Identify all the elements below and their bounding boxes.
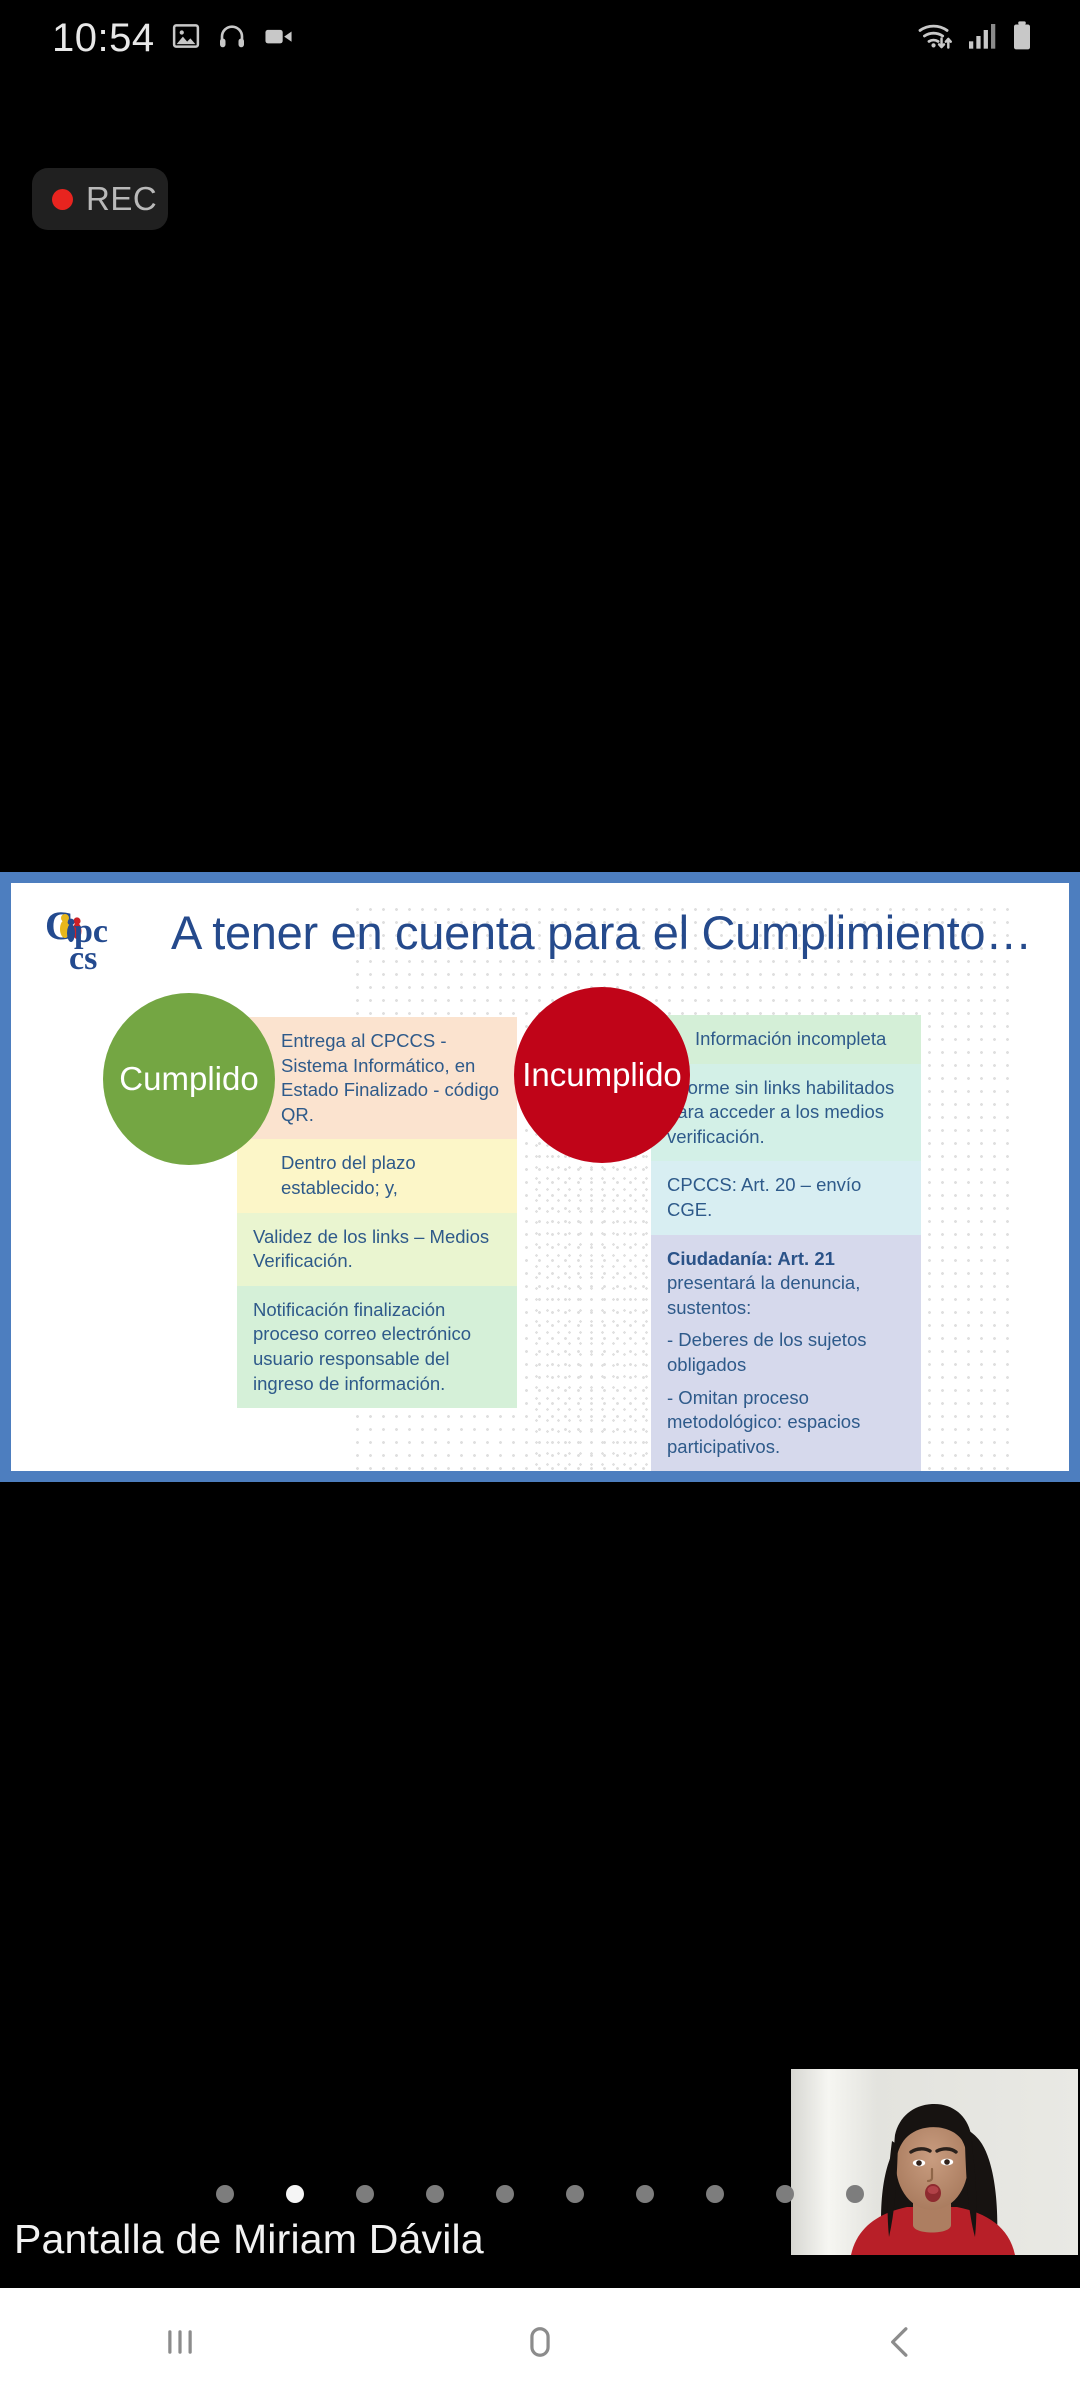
cumplido-items-column: Entrega al CPCCS - Sistema Informático, … xyxy=(237,1017,517,1408)
incumplido-label: Incumplido xyxy=(522,1056,682,1094)
home-button[interactable] xyxy=(470,2288,610,2400)
page-dot-4[interactable] xyxy=(426,2185,444,2203)
back-icon xyxy=(878,2320,922,2369)
home-icon xyxy=(518,2320,562,2369)
self-view-thumbnail[interactable] xyxy=(791,2069,1078,2255)
page-dot-6[interactable] xyxy=(566,2185,584,2203)
slide-canvas: C pc cs A tener en cuenta para el Cumpli… xyxy=(11,883,1069,1471)
image-icon xyxy=(171,21,201,56)
recents-icon xyxy=(158,2320,202,2369)
cumplido-item-3: Validez de los links – Medios Verificaci… xyxy=(237,1213,517,1286)
cumplido-item-4: Notificación finalización proceso correo… xyxy=(237,1286,517,1408)
status-bar-right xyxy=(916,0,1034,76)
cumplido-label: Cumplido xyxy=(119,1060,258,1098)
recording-badge[interactable]: REC xyxy=(32,168,168,230)
speaker-label: Pantalla de Miriam Dávila xyxy=(14,2216,484,2263)
incumplido-items-column: Información incompleta Informe sin links… xyxy=(651,1015,921,1471)
page-dot-3[interactable] xyxy=(356,2185,374,2203)
shared-screen-slide[interactable]: C pc cs A tener en cuenta para el Cumpli… xyxy=(0,872,1080,1482)
page-dot-10[interactable] xyxy=(846,2185,864,2203)
page-dot-1[interactable] xyxy=(216,2185,234,2203)
incumplido-item-1: Información incompleta xyxy=(651,1015,921,1064)
cellular-signal-icon xyxy=(967,21,999,56)
status-bar-left: 10:54 xyxy=(52,0,295,76)
headphones-icon xyxy=(217,21,247,56)
wifi-data-icon xyxy=(916,20,956,57)
incumplido-circle: Incumplido xyxy=(514,987,690,1163)
participant-video-image xyxy=(791,2069,1078,2255)
svg-text:cs: cs xyxy=(69,940,97,977)
page-dot-8[interactable] xyxy=(706,2185,724,2203)
slide-title: A tener en cuenta para el Cumplimiento… xyxy=(171,905,1032,960)
battery-icon xyxy=(1010,20,1034,57)
ciudadania-lead-bold: Ciudadanía: Art. 21 xyxy=(667,1248,835,1269)
status-clock: 10:54 xyxy=(52,16,155,61)
incumplido-item-2: Informe sin links habilitados para acced… xyxy=(651,1064,921,1162)
ciudadania-lead: Ciudadanía: Art. 21 presentará la denunc… xyxy=(667,1247,907,1321)
recording-label: REC xyxy=(86,180,157,218)
cumplido-item-1: Entrega al CPCCS - Sistema Informático, … xyxy=(237,1017,517,1139)
page-dot-9[interactable] xyxy=(776,2185,794,2203)
recents-button[interactable] xyxy=(110,2288,250,2400)
record-dot-icon xyxy=(52,189,73,210)
cumplido-item-2: Dentro del plazo establecido; y, xyxy=(237,1139,517,1212)
ciudadania-lead-rest: presentará la denuncia, sustentos: xyxy=(667,1272,860,1318)
cumplido-circle: Cumplido xyxy=(103,993,275,1165)
page-indicator-dots[interactable] xyxy=(0,2185,1080,2203)
page-dot-5[interactable] xyxy=(496,2185,514,2203)
page-dot-2[interactable] xyxy=(286,2185,304,2203)
android-nav-bar xyxy=(0,2288,1080,2400)
status-bar: 10:54 xyxy=(0,0,1080,76)
ciudadania-block: Ciudadanía: Art. 21 presentará la denunc… xyxy=(651,1235,921,1471)
incumplido-item-3: CPCCS: Art. 20 – envío CGE. xyxy=(651,1161,921,1234)
video-camera-icon xyxy=(263,21,295,56)
back-button[interactable] xyxy=(830,2288,970,2400)
slide-header: C pc cs A tener en cuenta para el Cumpli… xyxy=(11,883,1069,983)
ciudadania-bullet-2: - Omitan proceso metodológico: espacios … xyxy=(667,1386,907,1460)
cpccs-logo-icon: C pc cs xyxy=(43,903,135,977)
phone-screen: 10:54 xyxy=(0,0,1080,2400)
page-dot-7[interactable] xyxy=(636,2185,654,2203)
ciudadania-bullet-1: - Deberes de los sujetos obligados xyxy=(667,1328,907,1377)
